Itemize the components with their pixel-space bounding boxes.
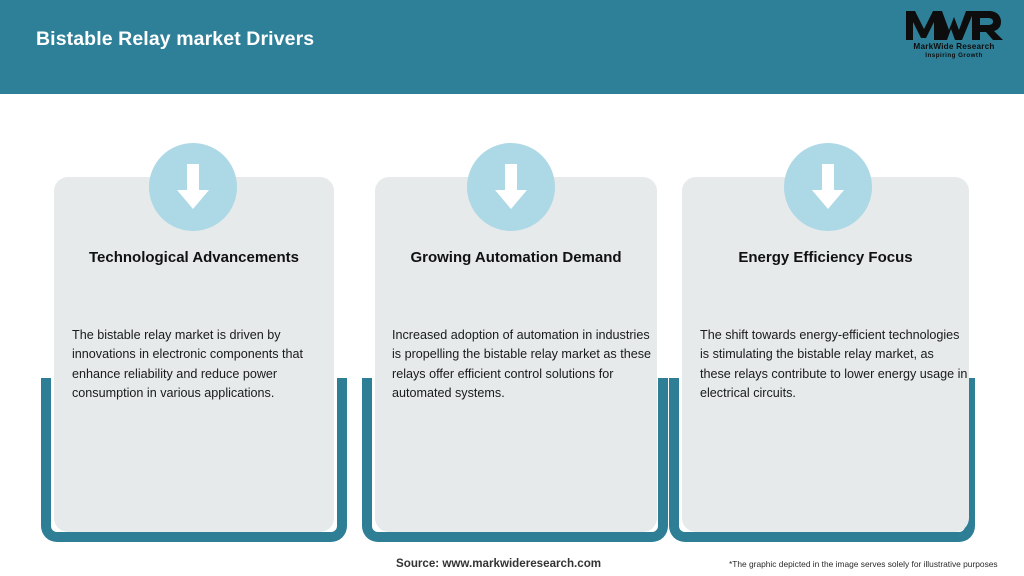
page-title: Bistable Relay market Drivers: [36, 28, 314, 51]
down-arrow-icon: [784, 143, 872, 231]
down-arrow-icon: [467, 143, 555, 231]
driver-card: Energy Efficiency Focus The shift toward…: [669, 94, 975, 542]
card-title: Technological Advancements: [54, 247, 334, 269]
card-title: Growing Automation Demand: [375, 247, 657, 269]
down-arrow-icon: [149, 143, 237, 231]
driver-card: Technological Advancements The bistable …: [41, 94, 347, 542]
mwr-monogram-icon: [904, 8, 1004, 42]
card-body-text: The bistable relay market is driven by i…: [72, 326, 325, 403]
logo-tagline: Inspiring Growth: [902, 52, 1006, 60]
brand-logo: MarkWide Research Inspiring Growth: [902, 8, 1006, 64]
source-label: Source: www.markwideresearch.com: [396, 557, 601, 570]
disclaimer-note: *The graphic depicted in the image serve…: [729, 559, 998, 569]
card-body-text: Increased adoption of automation in indu…: [392, 326, 654, 403]
header-bar: Bistable Relay market Drivers MarkWide R…: [0, 0, 1024, 94]
card-body-text: The shift towards energy-efficient techn…: [700, 326, 968, 403]
card-title: Energy Efficiency Focus: [682, 247, 969, 269]
driver-card: Growing Automation Demand Increased adop…: [362, 94, 668, 542]
logo-company-name: MarkWide Research: [902, 42, 1006, 52]
drivers-card-region: Technological Advancements The bistable …: [0, 94, 1024, 542]
